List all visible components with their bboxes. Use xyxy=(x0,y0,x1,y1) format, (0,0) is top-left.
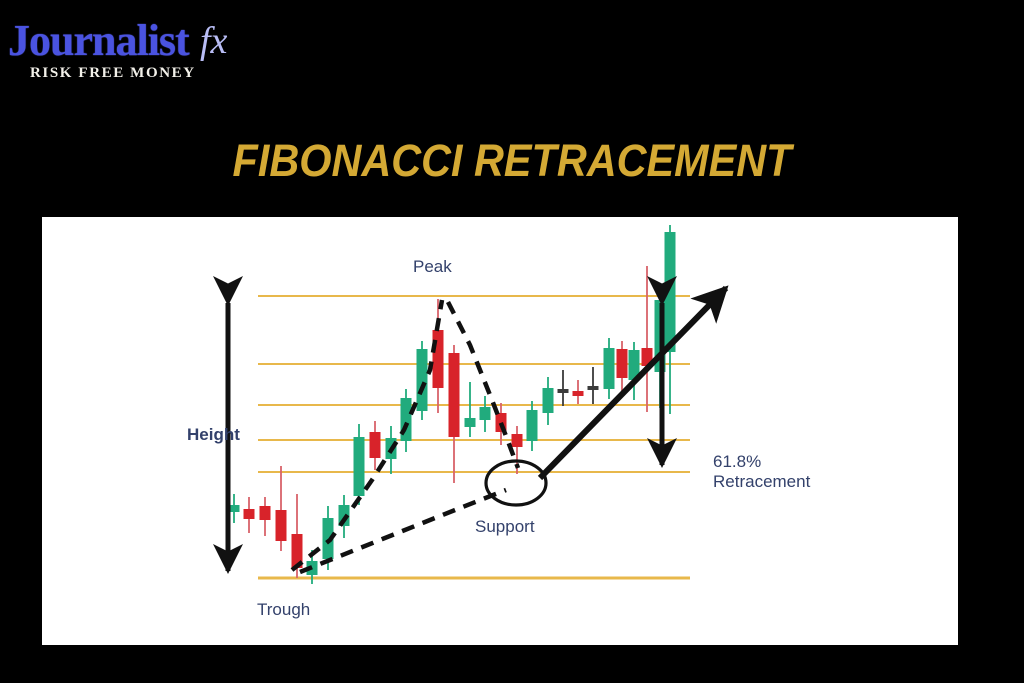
candlestick xyxy=(617,341,628,392)
candlestick xyxy=(480,396,491,432)
candlestick xyxy=(244,497,255,533)
brand-mark: fx xyxy=(200,22,227,60)
candlestick xyxy=(449,345,460,483)
trend-dashed-line xyxy=(292,300,442,570)
chart-panel: Peak Height Trough Support 61.8% Retrace… xyxy=(42,217,958,645)
candlestick xyxy=(527,401,538,451)
candlestick xyxy=(558,370,569,406)
candlestick xyxy=(260,497,271,536)
candlestick xyxy=(588,367,599,404)
candlestick xyxy=(604,338,615,399)
peak-label: Peak xyxy=(413,257,452,277)
candlestick xyxy=(629,342,640,400)
candlestick xyxy=(370,421,381,470)
candlestick xyxy=(401,389,412,452)
brand-name: Journalist xyxy=(8,19,189,63)
candlestick xyxy=(543,377,554,425)
brand-logo: Journalist fx RISK FREE MONEY xyxy=(0,0,264,100)
retracement-label: 61.8% Retracement xyxy=(713,452,810,492)
height-label: Height xyxy=(187,425,240,445)
candlestick xyxy=(433,299,444,413)
trough-label: Trough xyxy=(257,600,310,620)
candlestick xyxy=(642,266,653,412)
infographic-root: Journalist fx RISK FREE MONEY FIBONACCI … xyxy=(0,0,1024,683)
page-title: FIBONACCI RETRACEMENT xyxy=(41,138,983,183)
support-label: Support xyxy=(475,517,535,537)
brand-tagline: RISK FREE MONEY xyxy=(30,66,196,81)
candlestick xyxy=(276,466,287,551)
candlestick xyxy=(465,382,476,437)
candlestick-chart xyxy=(42,217,958,645)
breakout-arrow xyxy=(540,288,726,478)
candlestick xyxy=(417,341,428,420)
candlestick xyxy=(665,225,676,414)
candlestick xyxy=(354,424,365,505)
candlestick xyxy=(573,380,584,404)
